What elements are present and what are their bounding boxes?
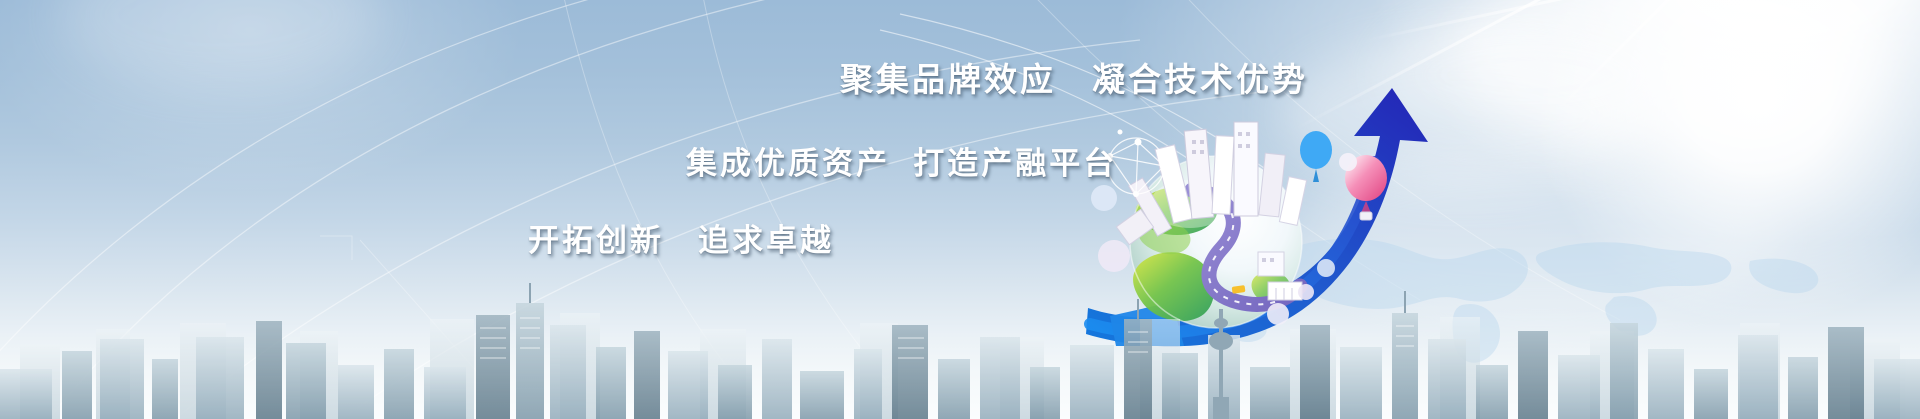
slogan-innovation: 开拓创新 追求卓越 [528,215,834,260]
slogan-brand: 聚集品牌效应 凝合技术优势 [840,53,1308,101]
slogan-group: 聚集品牌效应 凝合技术优势 集成优质资产 打造产融平台 开拓创新 追求卓越 [0,0,1920,419]
slogan-assets: 集成优质资产 打造产融平台 [686,138,1117,183]
promo-banner: 聚集品牌效应 凝合技术优势 集成优质资产 打造产融平台 开拓创新 追求卓越 [0,0,1920,419]
